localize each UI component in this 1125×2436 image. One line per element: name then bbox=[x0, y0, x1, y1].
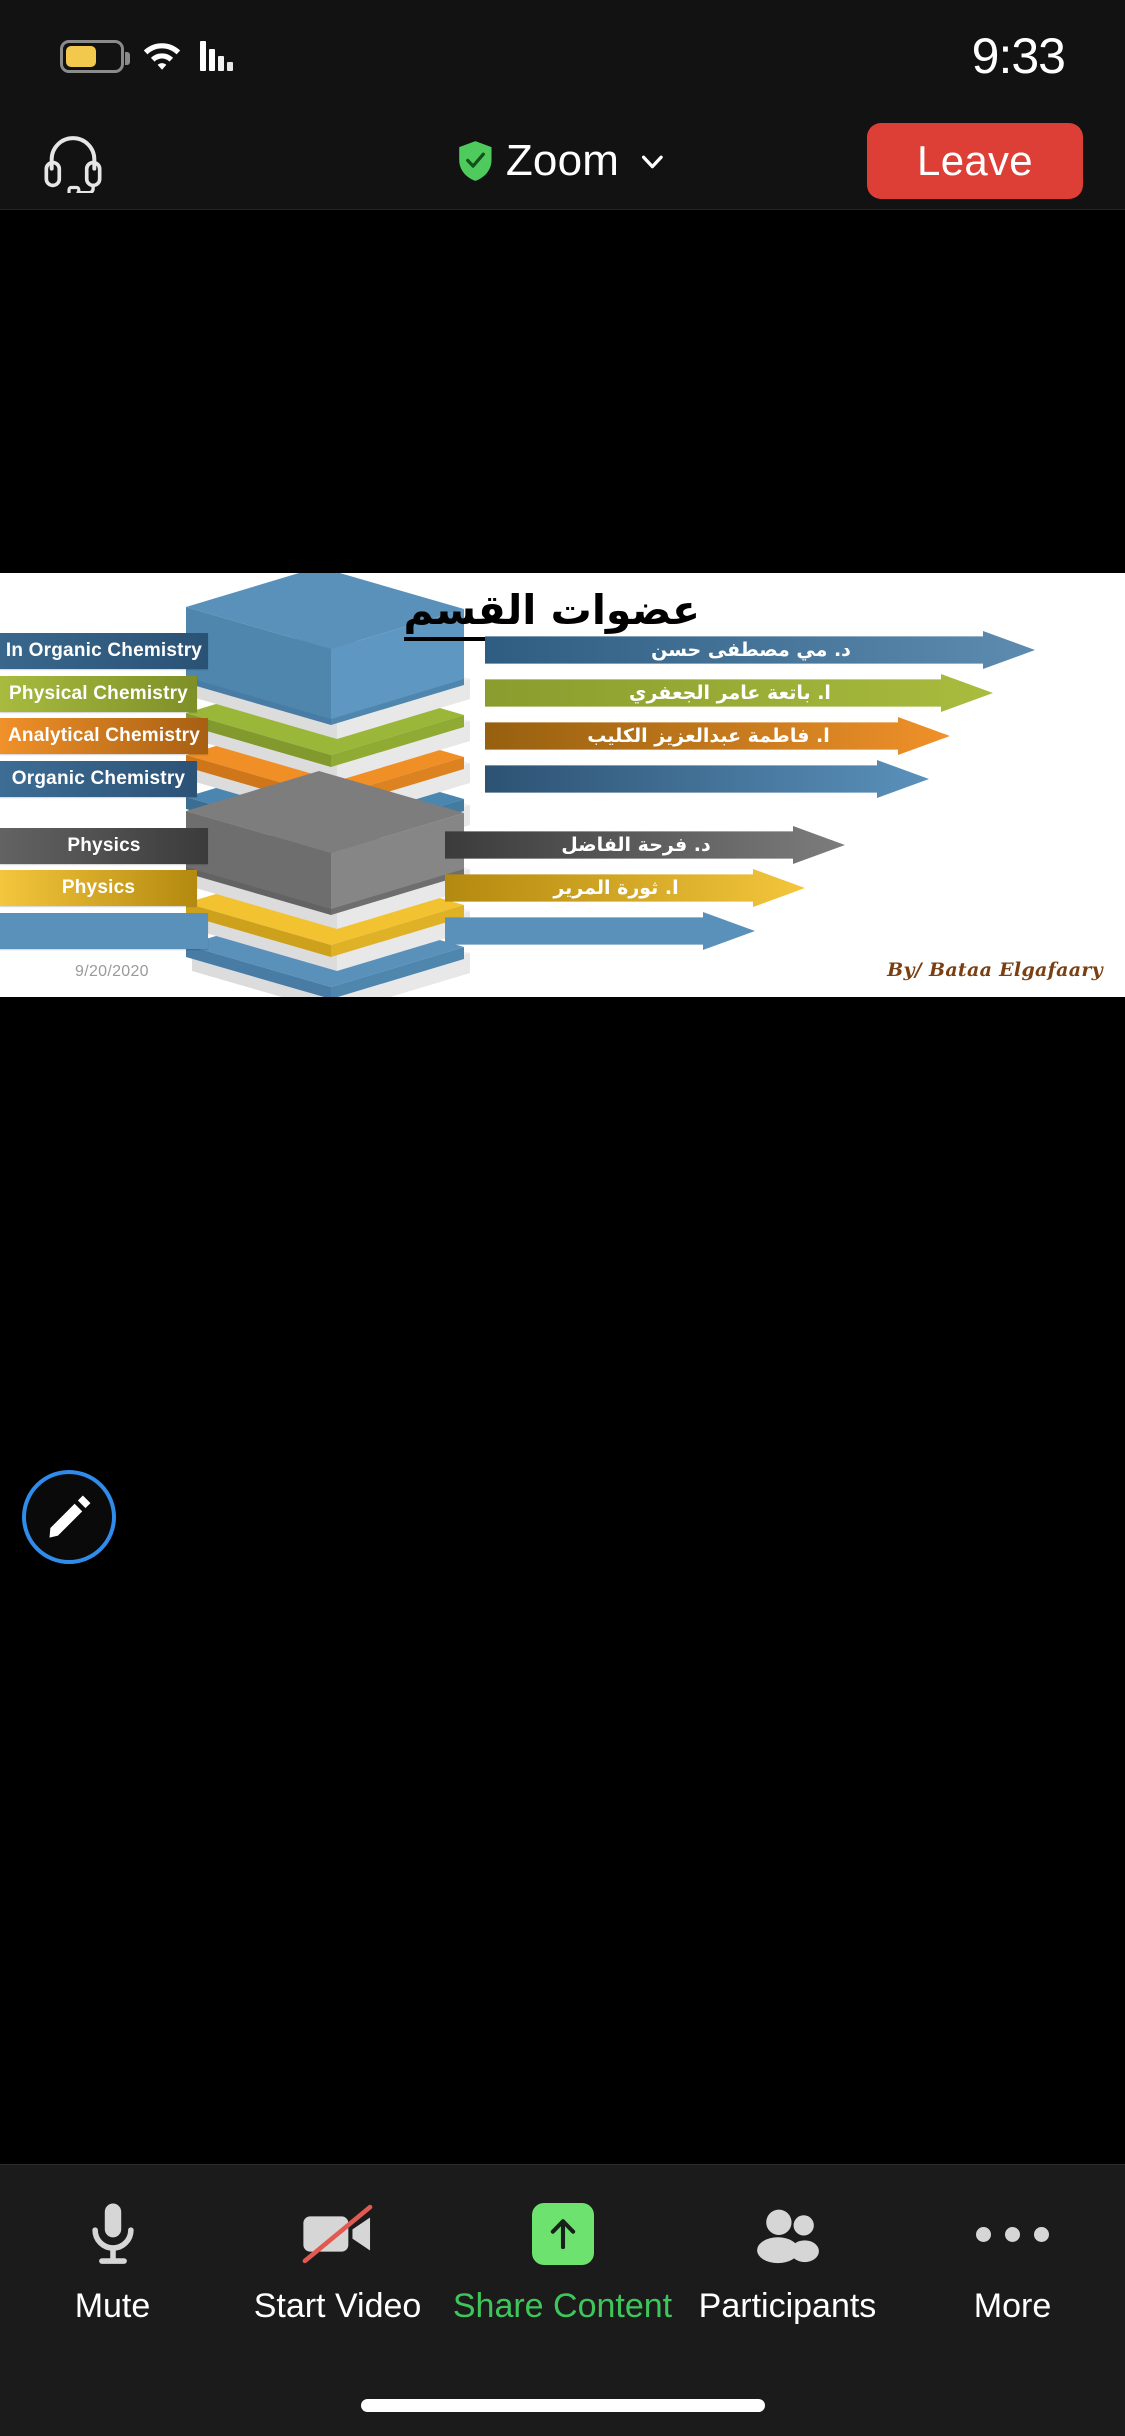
member-arrow-1: ا. باتعة عامر الجعفري bbox=[485, 674, 993, 712]
more-ellipsis-icon bbox=[976, 2227, 1049, 2242]
member-arrow-5: ا. ثورة المرير bbox=[445, 869, 805, 907]
meeting-title-group[interactable]: Zoom bbox=[458, 136, 667, 186]
battery-low-power-icon bbox=[60, 40, 124, 73]
member-arrow-2: ا. فاطمة عبدالعزيز الكليب bbox=[485, 717, 950, 755]
toolbar-label-more: More bbox=[974, 2287, 1051, 2326]
member-arrow-3 bbox=[485, 760, 929, 798]
meeting-toolbar: Mute Start Video Shar bbox=[0, 2164, 1125, 2436]
status-bar-clock: 9:33 bbox=[972, 27, 1065, 85]
shared-content-stage[interactable]: عضوات القسم In Organic Chemistry Physica… bbox=[0, 210, 1125, 2164]
toolbar-item-participants[interactable]: Participants bbox=[675, 2199, 900, 2326]
video-off-icon bbox=[298, 2203, 378, 2265]
status-bar-left-icons bbox=[60, 40, 233, 73]
share-upload-icon bbox=[532, 2203, 594, 2265]
category-ribbon-organic-chemistry: Organic Chemistry bbox=[0, 761, 197, 797]
toolbar-item-start-video[interactable]: Start Video bbox=[225, 2199, 450, 2326]
chevron-down-icon[interactable] bbox=[637, 146, 667, 176]
category-ribbon-physics-gold: Physics bbox=[0, 870, 197, 906]
home-indicator bbox=[361, 2399, 765, 2412]
toolbar-label-mute: Mute bbox=[75, 2287, 151, 2326]
meeting-header: Zoom Leave bbox=[0, 112, 1125, 210]
member-arrow-6 bbox=[445, 912, 755, 950]
slide-title: عضوات القسم bbox=[404, 586, 700, 641]
audio-headset-button[interactable] bbox=[42, 119, 132, 203]
zoom-meeting-screen: 9:33 Zoom Leave bbox=[0, 0, 1125, 2436]
toolbar-item-more[interactable]: More bbox=[900, 2199, 1125, 2326]
category-ribbon-physical-chemistry: Physical Chemistry bbox=[0, 676, 197, 712]
participants-icon bbox=[750, 2203, 826, 2265]
slide-author: By/ Bataa Elgafaary bbox=[887, 959, 1103, 981]
annotate-button[interactable] bbox=[22, 1470, 116, 1564]
category-ribbon-physics-gray: Physics bbox=[0, 828, 208, 864]
headset-icon bbox=[42, 129, 104, 193]
slide-date: 9/20/2020 bbox=[75, 963, 149, 981]
member-arrow-4: د. فرحة الفاضل bbox=[445, 826, 845, 864]
category-ribbon-inorganic-chemistry: In Organic Chemistry bbox=[0, 633, 208, 669]
toolbar-item-mute[interactable]: Mute bbox=[0, 2199, 225, 2326]
member-arrow-0: د. مي مصطفى حسن bbox=[485, 631, 1035, 669]
shared-slide[interactable]: عضوات القسم In Organic Chemistry Physica… bbox=[0, 573, 1125, 997]
encryption-shield-check-icon bbox=[458, 141, 492, 181]
toolbar-item-share-content[interactable]: Share Content bbox=[450, 2199, 675, 2326]
status-bar: 9:33 bbox=[0, 0, 1125, 112]
toolbar-label-participants: Participants bbox=[699, 2287, 877, 2326]
category-ribbon-analytical-chemistry: Analytical Chemistry bbox=[0, 718, 208, 754]
pencil-icon bbox=[43, 1491, 95, 1543]
category-ribbon-blank bbox=[0, 913, 208, 949]
toolbar-label-start-video: Start Video bbox=[254, 2287, 422, 2326]
wifi-icon bbox=[140, 40, 184, 73]
leave-button[interactable]: Leave bbox=[867, 123, 1083, 199]
meeting-title-label: Zoom bbox=[506, 136, 619, 186]
toolbar-label-share-content: Share Content bbox=[453, 2287, 672, 2326]
cellular-signal-icon bbox=[200, 41, 233, 71]
microphone-icon bbox=[84, 2199, 142, 2269]
